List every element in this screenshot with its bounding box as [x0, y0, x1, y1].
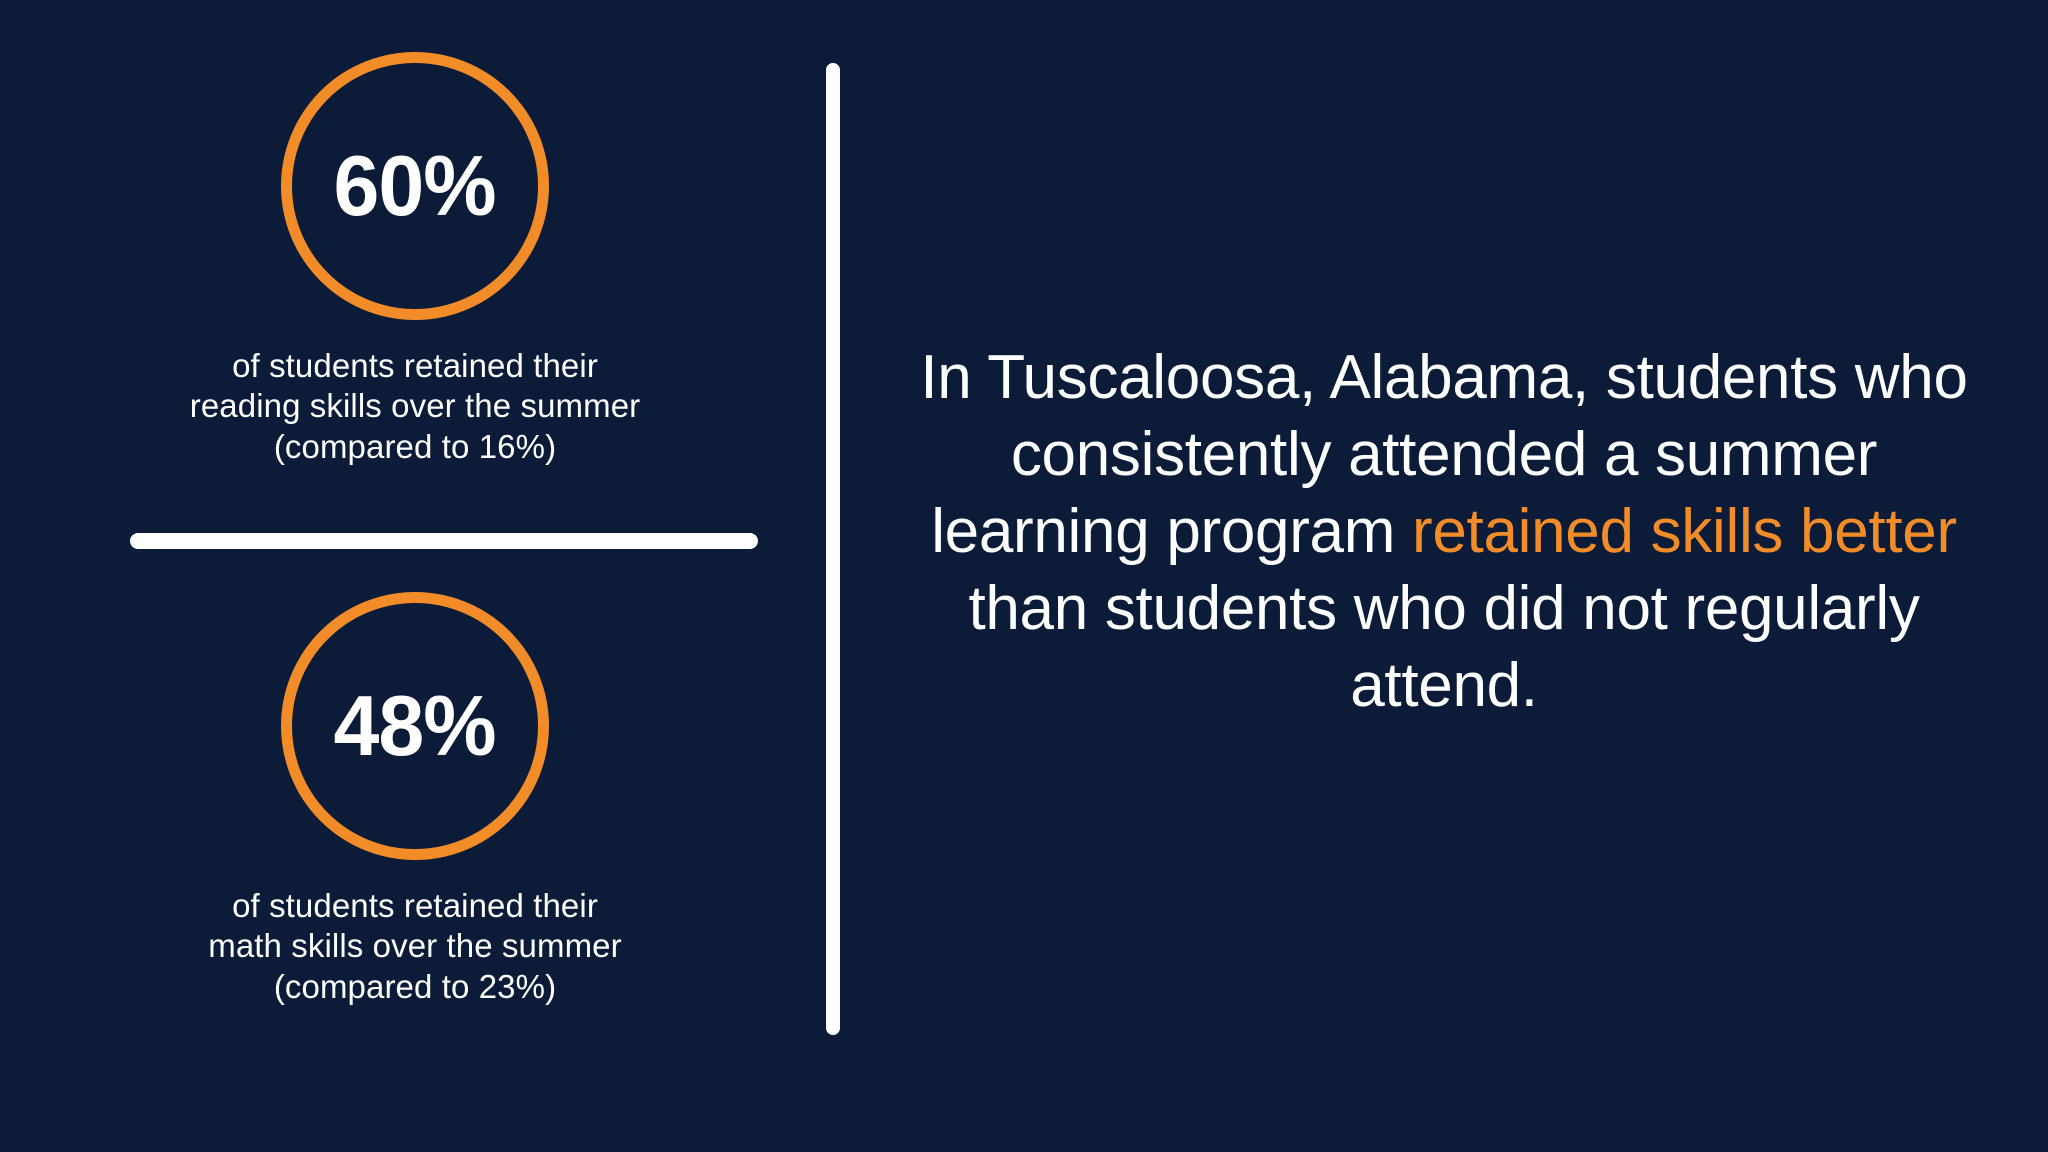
- stat-block-math: 48% of students retained their math skil…: [0, 592, 830, 1007]
- statistics-column: 60% of students retained their reading s…: [0, 0, 830, 1152]
- stat-ring-reading: 60%: [281, 52, 549, 320]
- stat-ring-math: 48%: [281, 592, 549, 860]
- narrative-tail: than students who did not regularly atte…: [968, 574, 1919, 720]
- narrative-highlight: retained skills better: [1412, 497, 1957, 566]
- caption-line: of students retained their: [95, 346, 735, 386]
- infographic-slide: 60% of students retained their reading s…: [0, 0, 2048, 1152]
- stat-caption-math: of students retained their math skills o…: [95, 886, 735, 1007]
- vertical-divider: [826, 63, 840, 1035]
- narrative-text: In Tuscaloosa, Alabama, students who con…: [914, 340, 1974, 724]
- caption-line: reading skills over the summer: [95, 386, 735, 426]
- stat-caption-reading: of students retained their reading skill…: [95, 346, 735, 467]
- horizontal-divider: [130, 533, 758, 549]
- stat-value-math: 48%: [334, 684, 496, 769]
- caption-line: of students retained their: [95, 886, 735, 926]
- narrative-column: In Tuscaloosa, Alabama, students who con…: [840, 0, 2048, 1152]
- caption-line: (compared to 23%): [95, 967, 735, 1007]
- stat-block-reading: 60% of students retained their reading s…: [0, 52, 830, 467]
- stat-value-reading: 60%: [334, 144, 496, 229]
- caption-line: math skills over the summer: [95, 926, 735, 966]
- caption-line: (compared to 16%): [95, 427, 735, 467]
